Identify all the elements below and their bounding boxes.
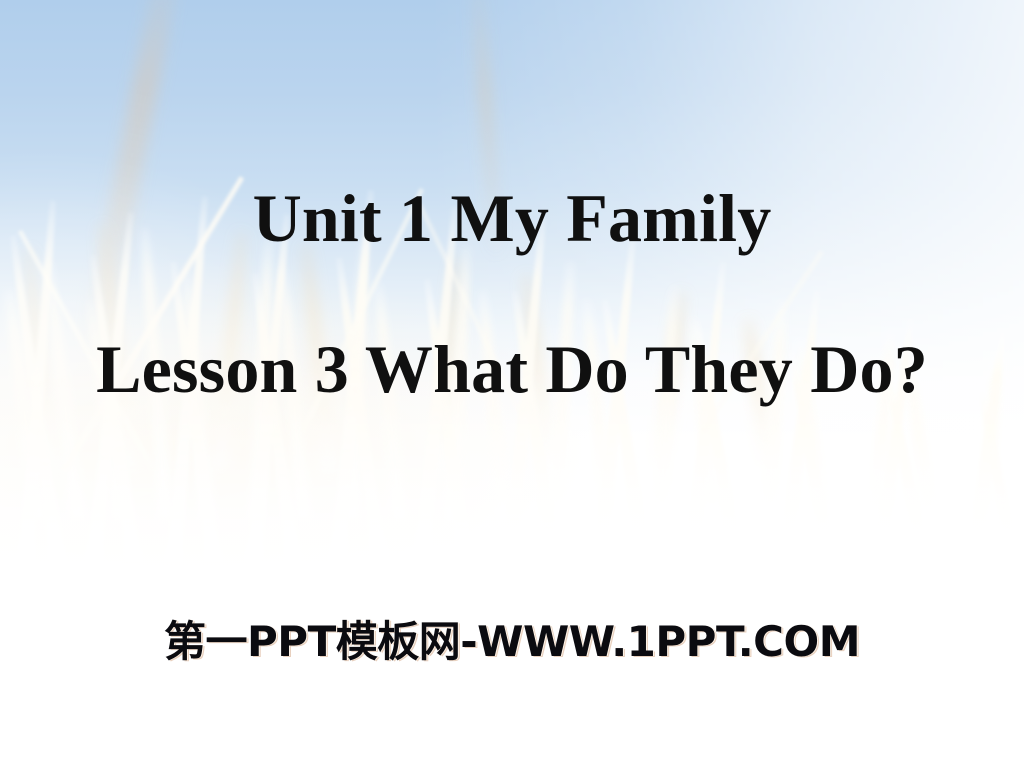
slide-title-unit: Unit 1 My Family — [0, 178, 1024, 258]
watermark-text: 第一PPT模板网-WWW.1PPT.COM — [0, 616, 1024, 668]
slide-title-lesson: Lesson 3 What Do They Do? — [0, 329, 1024, 409]
presentation-slide: Unit 1 My Family Lesson 3 What Do They D… — [0, 0, 1024, 768]
